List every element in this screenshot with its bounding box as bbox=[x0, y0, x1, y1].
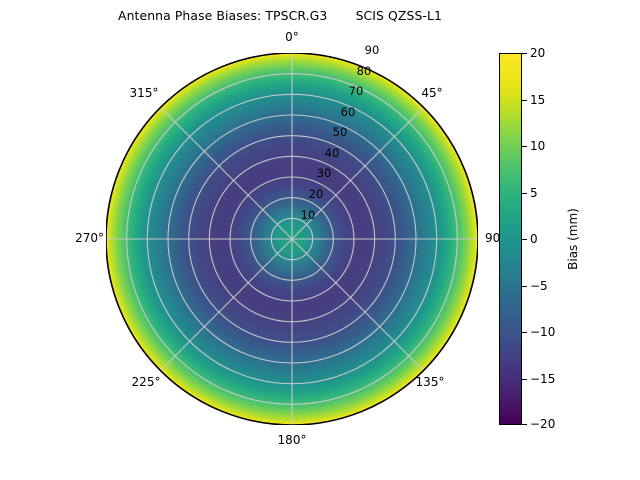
radial-tick-90: 90 bbox=[360, 43, 384, 57]
colorbar-tick-label-minus15: −15 bbox=[530, 372, 555, 386]
radial-tick-70: 70 bbox=[344, 84, 368, 98]
polar-axes[interactable]: 0° 45° 90° 135° 180° 225° 270° 315° 10 2… bbox=[106, 53, 478, 425]
radial-tick-30: 30 bbox=[312, 166, 336, 180]
radial-tick-50: 50 bbox=[328, 125, 352, 139]
colorbar-tick-mark bbox=[522, 379, 527, 380]
radial-tick-10: 10 bbox=[296, 208, 320, 222]
colorbar-tick-mark bbox=[522, 332, 527, 333]
page-title: Antenna Phase Biases: TPSCR.G3 SCIS QZSS… bbox=[0, 8, 560, 23]
colorbar-tick-label-0: 0 bbox=[530, 232, 538, 246]
angular-tick-0: 0° bbox=[277, 30, 307, 44]
colorbar-axes[interactable]: 20 15 10 5 0 −5 −10 −15 −20 Bias (mm) bbox=[499, 53, 522, 425]
radial-tick-80: 80 bbox=[352, 64, 376, 78]
colorbar-tick-label-5: 5 bbox=[530, 186, 538, 200]
angular-tick-270: 270° bbox=[60, 231, 104, 245]
figure-canvas: Antenna Phase Biases: TPSCR.G3 SCIS QZSS… bbox=[0, 0, 640, 480]
colorbar-tick-mark bbox=[522, 193, 527, 194]
colorbar-tick-label-20: 20 bbox=[530, 46, 545, 60]
angular-tick-45: 45° bbox=[416, 86, 448, 100]
radial-tick-20: 20 bbox=[304, 187, 328, 201]
colorbar-tick-mark bbox=[522, 53, 527, 54]
colorbar-gradient bbox=[499, 53, 522, 425]
colorbar-tick-label-10: 10 bbox=[530, 139, 545, 153]
angular-tick-135: 135° bbox=[410, 375, 450, 389]
colorbar-tick-mark bbox=[522, 424, 527, 425]
angular-tick-225: 225° bbox=[124, 375, 168, 389]
polar-data-mesh bbox=[106, 53, 478, 425]
colorbar-tick-mark bbox=[522, 100, 527, 101]
colorbar-tick-mark bbox=[522, 286, 527, 287]
colorbar-tick-label-minus5: −5 bbox=[530, 279, 548, 293]
colorbar-tick-mark bbox=[522, 239, 527, 240]
radial-tick-40: 40 bbox=[320, 146, 344, 160]
colorbar-tick-label-minus20: −20 bbox=[530, 417, 555, 431]
angular-tick-180: 180° bbox=[270, 433, 314, 447]
angular-tick-315: 315° bbox=[122, 86, 166, 100]
radial-tick-60: 60 bbox=[336, 105, 360, 119]
colorbar-tick-mark bbox=[522, 146, 527, 147]
colorbar-tick-label-15: 15 bbox=[530, 93, 545, 107]
colorbar-axis-label: Bias (mm) bbox=[566, 208, 580, 270]
colorbar-tick-label-minus10: −10 bbox=[530, 325, 555, 339]
